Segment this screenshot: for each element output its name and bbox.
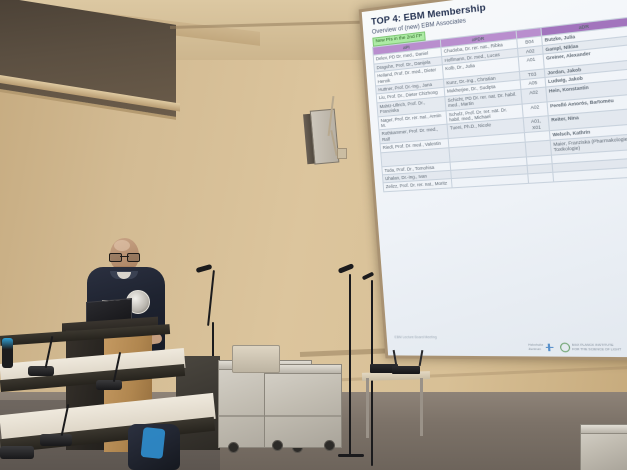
desk-mic-base xyxy=(40,434,72,446)
flight-case-2 xyxy=(264,364,342,448)
presentation-slide: TOP 4: EBM Membership Overview of (new) … xyxy=(362,0,627,357)
screenshot-root: TOP 4: EBM Membership Overview of (new) … xyxy=(0,0,627,470)
ebm-membership-table: aPI aPDR aDR Delev, PD Dr. med., DanielC… xyxy=(372,17,627,192)
case-caster xyxy=(272,440,283,451)
mic-pole xyxy=(349,274,351,456)
case-caster xyxy=(228,442,239,453)
presenter-head-highlight xyxy=(114,240,130,251)
slide-footer: EBM Lecture Board Meeting xyxy=(394,335,436,339)
mic-gooseneck xyxy=(207,270,215,326)
table-body: Delev, PD Dr. med., DanielChudoba, Dr. r… xyxy=(373,27,627,192)
medical-cross-icon xyxy=(545,344,553,352)
av-table-leg xyxy=(420,378,423,436)
minerva-icon xyxy=(559,343,570,353)
glasses-left-lens xyxy=(109,253,122,262)
desk-mic-base xyxy=(28,366,54,376)
case-band xyxy=(265,415,341,417)
wall-outlet-plate xyxy=(337,148,347,159)
glasses-right-lens xyxy=(127,253,140,262)
water-bottle xyxy=(2,338,13,368)
helmholtz-logo: Helmholtz Zentrum xyxy=(528,344,553,352)
max-planck-logo: MAX PLANCK INSTITUTE FOR THE SCIENCE OF … xyxy=(559,343,621,353)
speaker-face xyxy=(310,109,340,165)
desk-mic-base xyxy=(96,380,122,390)
wireless-receiver-2 xyxy=(392,366,420,374)
backpack-strap xyxy=(140,427,165,459)
cell-code xyxy=(528,173,554,183)
chair xyxy=(232,345,280,373)
mic-capsule xyxy=(196,264,213,273)
slide-logo-row: Helmholtz Zentrum MAX PLANCK INSTITUTE F… xyxy=(528,343,627,353)
flight-case-3 xyxy=(580,424,627,470)
mpi-line2: FOR THE SCIENCE OF LIGHT xyxy=(572,348,621,352)
desk-mic-base xyxy=(0,446,34,459)
glasses-icon xyxy=(109,253,140,260)
av-table-leg xyxy=(366,378,369,438)
projection-screen: TOP 4: EBM Membership Overview of (new) … xyxy=(359,0,627,361)
helmholtz-line2: Zentrum xyxy=(528,347,543,351)
case-caster xyxy=(324,440,335,451)
case-lid xyxy=(581,425,627,434)
